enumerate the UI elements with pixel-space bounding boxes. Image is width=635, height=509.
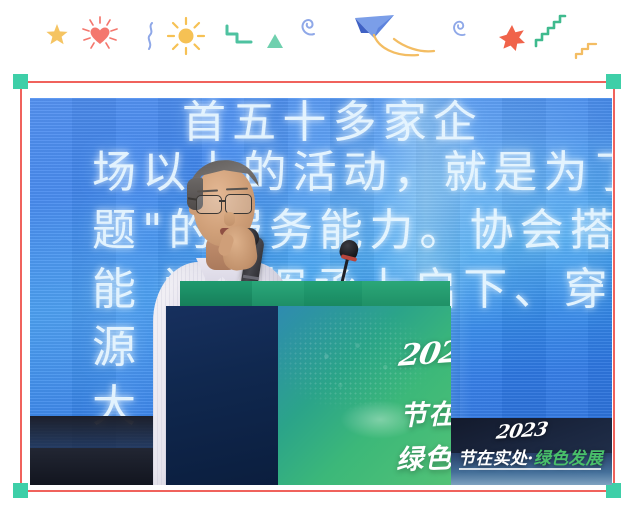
- side-display-underline: [459, 468, 601, 470]
- lectern-logo-script: 2023: [396, 333, 451, 373]
- sun-icon: [166, 16, 206, 56]
- plane-trail-icon: [372, 33, 436, 61]
- frame-border-top: [20, 81, 614, 83]
- side-display-title-white: 节在实处·: [458, 449, 534, 469]
- decorative-doodle-band: [0, 0, 635, 72]
- heart-burst-icon: [80, 14, 120, 54]
- frame-border-bottom: [20, 490, 614, 492]
- zigzag-green-icon: [224, 24, 254, 48]
- side-display-screen: 2023 节在实处·绿色发展: [451, 418, 612, 485]
- spiral-blue-icon: [296, 16, 322, 42]
- side-display-title: 节在实处·绿色发展: [458, 444, 603, 469]
- corner-marker-top-left: [13, 74, 28, 89]
- side-display-logo-script: 2023: [495, 418, 550, 443]
- glasses-lens-left: [196, 195, 222, 214]
- glasses-lens-right: [225, 194, 252, 214]
- squiggle-blue-icon: [144, 22, 158, 50]
- speaker-nose: [224, 212, 235, 226]
- lectern: 2023 节在实处 绿色发展: [166, 306, 451, 485]
- corner-marker-bottom-left: [13, 483, 28, 498]
- page-root: 首五十多家企 场以上的活动，就是为了整合 题"的服务能力。协会搭建的节 能 间发…: [0, 0, 635, 509]
- stairs-green-icon: [534, 14, 568, 48]
- lectern-right-panel: 2023 节在实处 绿色发展: [278, 306, 451, 485]
- frame-border-left: [20, 81, 22, 491]
- stairs-orange-icon: [574, 40, 600, 60]
- conference-photo: 首五十多家企 场以上的活动，就是为了整合 题"的服务能力。协会搭建的节 能 间发…: [30, 98, 612, 485]
- lectern-calligraphy-line-1: 节在实处: [399, 390, 451, 433]
- star-yellow-icon: [44, 22, 70, 48]
- lectern-calligraphy-line-2: 绿色发展: [395, 434, 451, 477]
- spiral-blue-2-icon: [448, 18, 472, 42]
- frame-border-right: [613, 81, 615, 491]
- lectern-left-panel: [166, 306, 278, 485]
- side-display-title-green: 绿色发展: [534, 449, 603, 469]
- corner-marker-bottom-right: [606, 483, 621, 498]
- triangle-green-icon: [265, 32, 285, 50]
- glasses-bridge: [219, 200, 226, 202]
- star-red-icon: [498, 24, 526, 52]
- corner-marker-top-right: [606, 74, 621, 89]
